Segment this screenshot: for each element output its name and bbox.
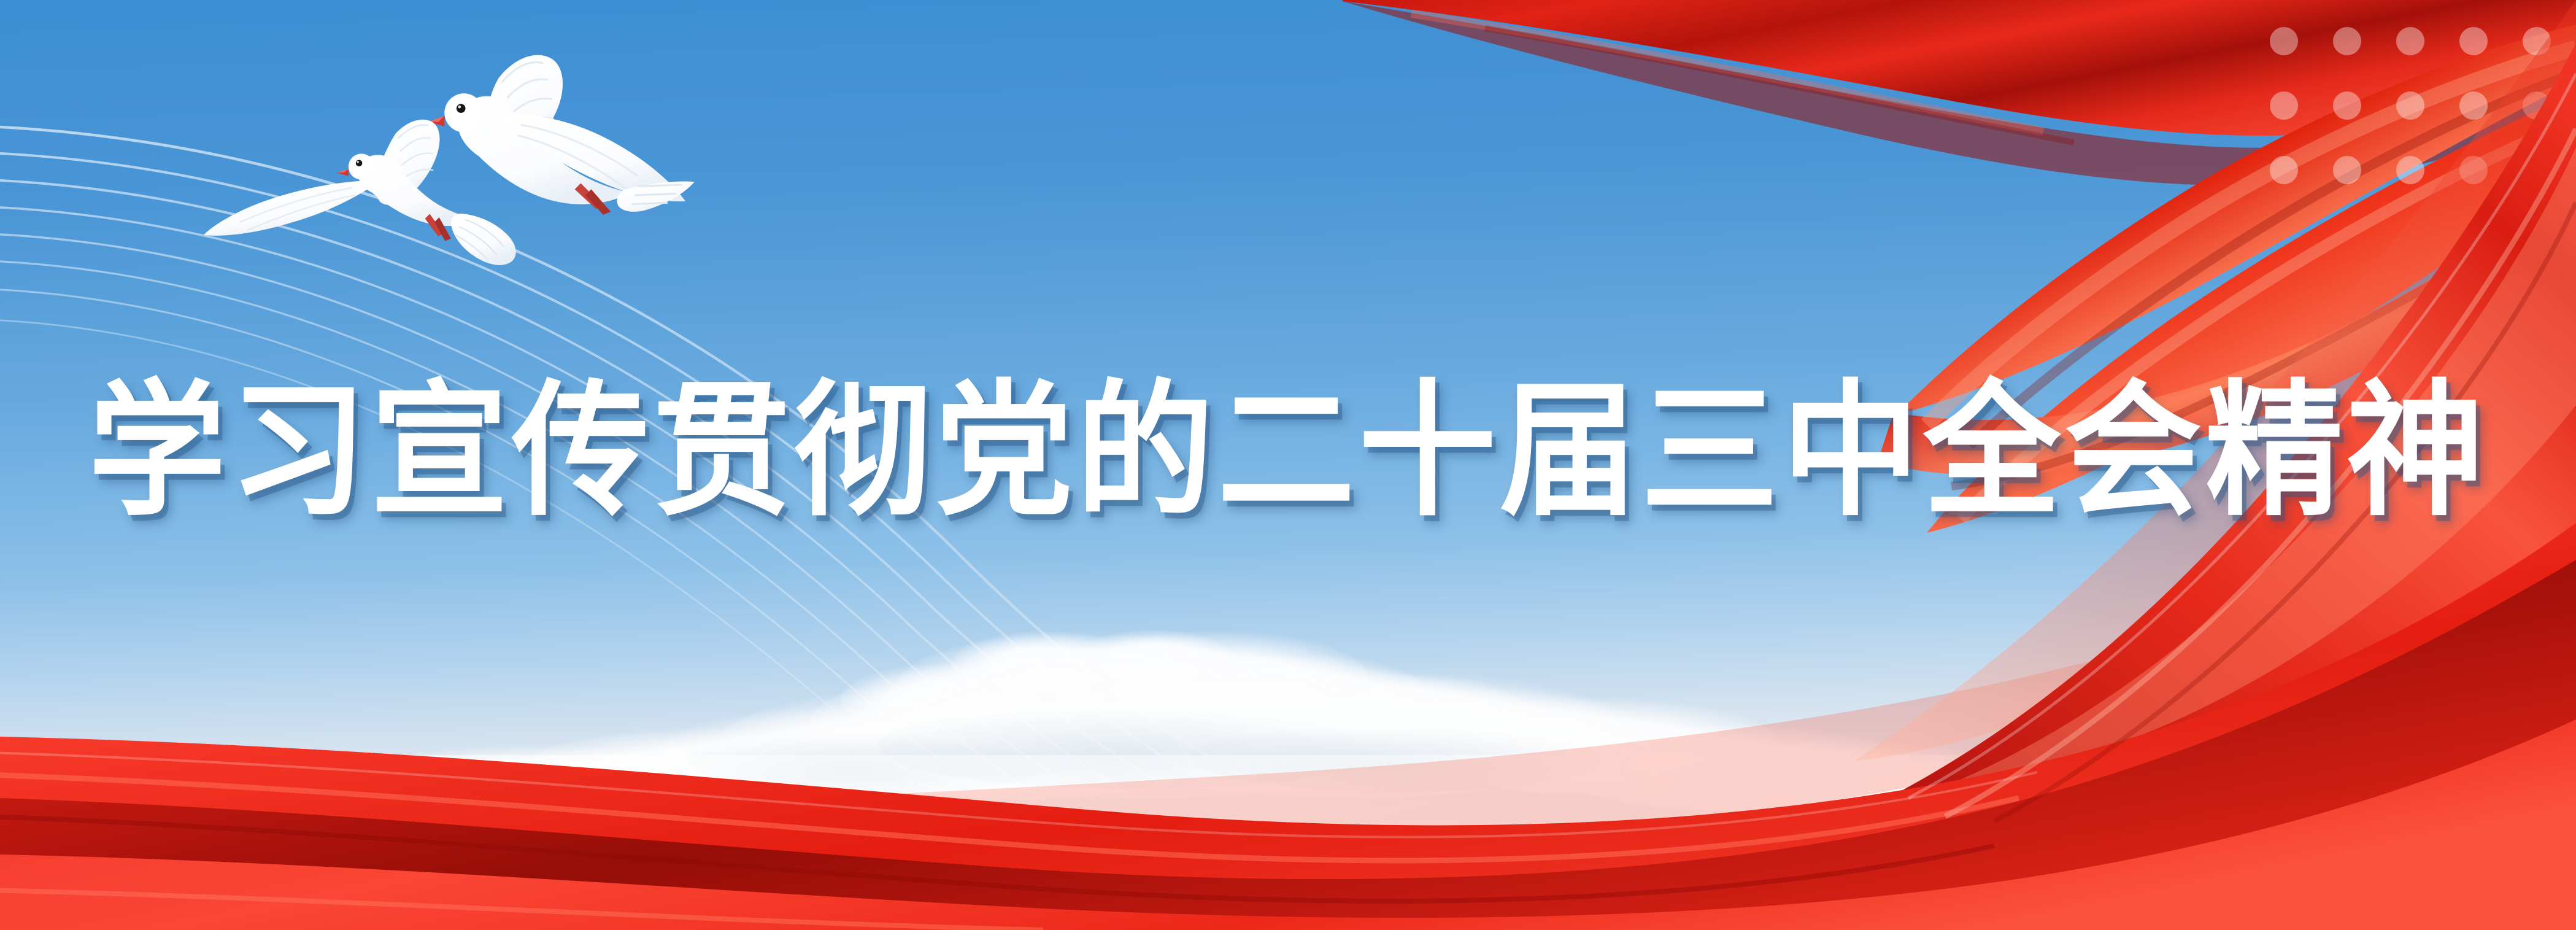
peace-doves-layer <box>0 0 2576 930</box>
banner-root: 学习宣传贯彻党的二十届三中全会精神 <box>0 0 2576 930</box>
dove-right <box>428 55 695 215</box>
